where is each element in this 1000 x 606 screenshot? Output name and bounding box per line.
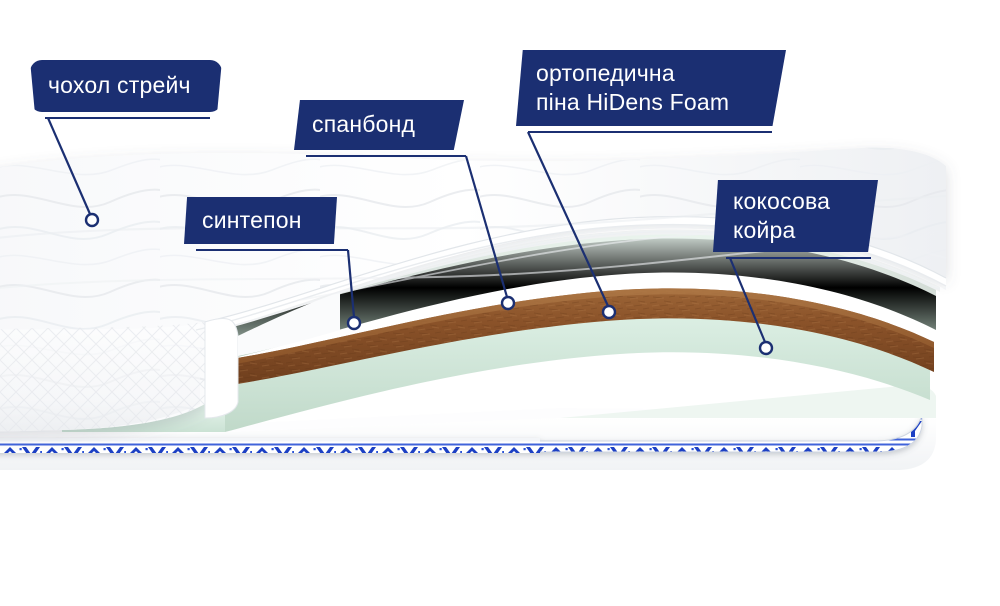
callout-hidens-foam[interactable]: ортопедична піна HiDens Foam: [516, 50, 786, 126]
callout-label-cover-stretch: чохол стрейч: [30, 60, 222, 112]
callout-rule-cover-stretch: [45, 117, 210, 119]
callout-label-hidens-foam: ортопедична піна HiDens Foam: [516, 50, 786, 126]
mattress-diagram-canvas: чохол стрейч синтепон спанбонд ортопедич…: [0, 0, 1000, 606]
callout-coconut-coir[interactable]: кокосова койра: [713, 180, 878, 252]
leader-dot-coconut-coir: [760, 342, 772, 354]
callout-rule-coconut-coir: [726, 257, 871, 259]
layer-rear-foam: [560, 385, 936, 418]
callout-rule-hidens-foam: [528, 131, 772, 133]
callout-label-synthetic-padding: синтепон: [184, 197, 337, 244]
callout-cover-stretch[interactable]: чохол стрейч: [30, 60, 222, 112]
callout-spunbond[interactable]: спанбонд: [294, 100, 464, 150]
leader-dot-synthetic-padding: [348, 317, 360, 329]
leader-dot-spunbond: [502, 297, 514, 309]
callout-rule-spunbond: [306, 155, 466, 157]
leader-dot-cover-stretch: [86, 214, 98, 226]
callout-synthetic-padding[interactable]: синтепон: [184, 197, 337, 244]
callout-label-coconut-coir: кокосова койра: [713, 180, 878, 252]
callout-rule-synthetic-padding: [196, 249, 348, 251]
leader-dot-hidens-foam: [603, 306, 615, 318]
callout-label-spunbond: спанбонд: [294, 100, 464, 150]
